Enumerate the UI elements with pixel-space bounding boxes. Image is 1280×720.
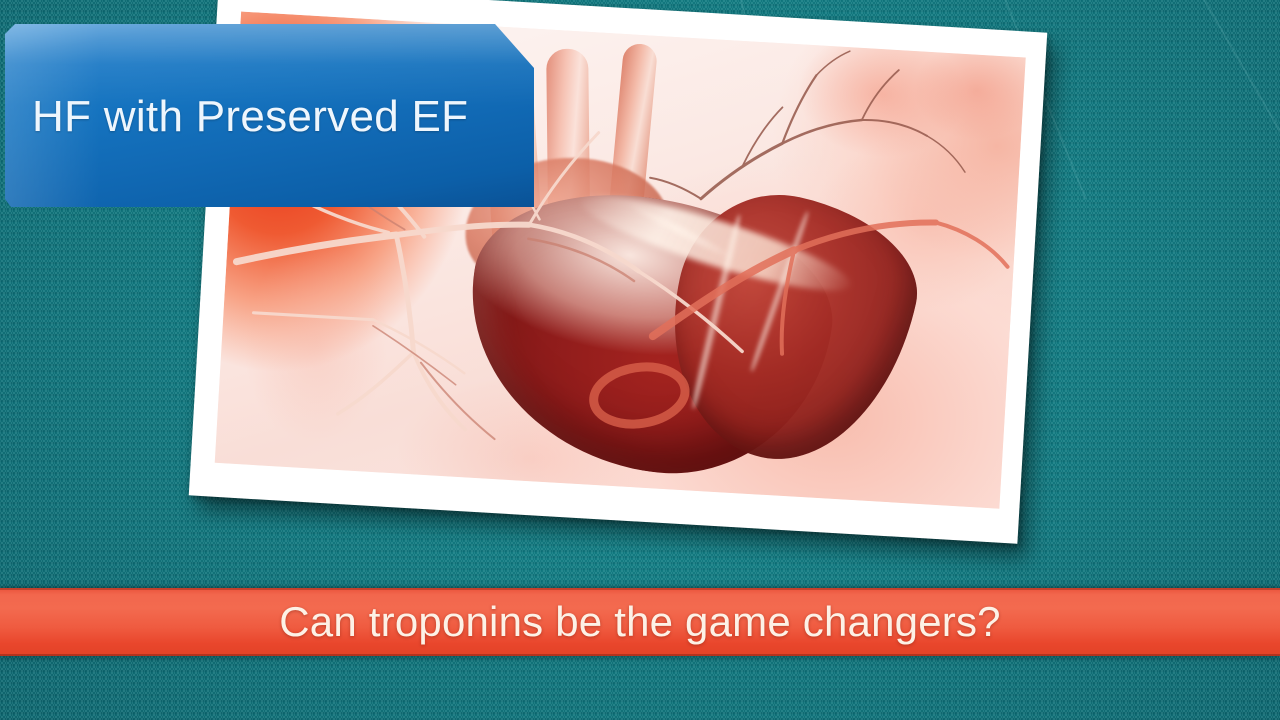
slide-title: HF with Preserved EF: [32, 92, 468, 142]
presentation-slide: HF with Preserved EF Can troponins be th…: [0, 0, 1280, 720]
slide-subtitle: Can troponins be the game changers?: [0, 598, 1280, 646]
subtitle-banner: Can troponins be the game changers?: [0, 588, 1280, 656]
